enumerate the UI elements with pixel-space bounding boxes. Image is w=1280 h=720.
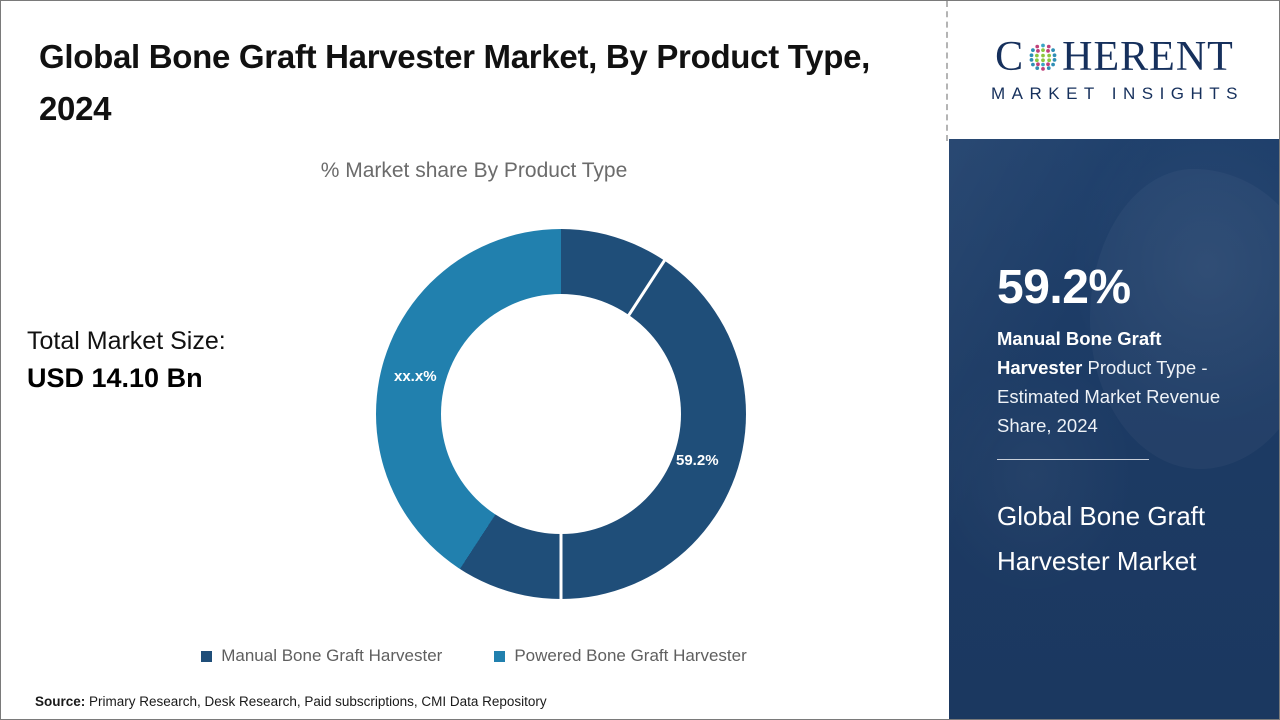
total-market-size-label: Total Market Size: <box>27 323 327 359</box>
highlight-panel: 59.2% Manual Bone Graft Harvester Produc… <box>949 139 1280 719</box>
legend-swatch-icon <box>201 651 212 662</box>
chart-subtitle: % Market share By Product Type <box>1 159 947 183</box>
highlight-market-name: Global Bone Graft Harvester Market <box>997 494 1249 584</box>
total-market-size-block: Total Market Size: USD 14.10 Bn <box>27 323 327 397</box>
legend-label-powered: Powered Bone Graft Harvester <box>514 646 746 666</box>
brand-logo-subtitle: MARKET INSIGHTS <box>985 84 1244 104</box>
total-market-size-value: USD 14.10 Bn <box>27 359 327 397</box>
chart-legend: Manual Bone Graft Harvester Powered Bone… <box>1 646 947 666</box>
slice-divider-start <box>560 414 563 600</box>
source-note: Source: Primary Research, Desk Research,… <box>35 694 547 709</box>
brand-logo-wordmark: C <box>995 36 1234 78</box>
source-label: Source: <box>35 694 85 709</box>
highlight-panel-content: 59.2% Manual Bone Graft Harvester Produc… <box>997 139 1249 719</box>
source-text: Primary Research, Desk Research, Paid su… <box>85 694 546 709</box>
legend-swatch-icon <box>494 651 505 662</box>
donut-label-manual: 59.2% <box>676 452 719 469</box>
panel-divider <box>946 1 948 141</box>
donut-chart: xx.x% 59.2% <box>376 229 746 599</box>
globe-dots-icon <box>1025 39 1061 75</box>
brand-logo-letter-c: C <box>995 36 1024 78</box>
infographic-root: Global Bone Graft Harvester Market, By P… <box>0 0 1280 720</box>
highlight-share-value: 59.2% <box>997 264 1131 312</box>
main-chart-panel: Global Bone Graft Harvester Market, By P… <box>1 1 947 719</box>
highlight-description: Manual Bone Graft Harvester Product Type… <box>997 324 1245 440</box>
legend-label-manual: Manual Bone Graft Harvester <box>221 646 442 666</box>
legend-item-manual[interactable]: Manual Bone Graft Harvester <box>201 646 442 666</box>
legend-item-powered[interactable]: Powered Bone Graft Harvester <box>494 646 746 666</box>
brand-logo: C <box>949 1 1280 139</box>
page-title: Global Bone Graft Harvester Market, By P… <box>39 31 909 135</box>
highlight-divider-rule <box>997 459 1149 460</box>
donut-label-powered: xx.x% <box>394 368 437 385</box>
brand-logo-letters-herent: HERENT <box>1062 36 1234 78</box>
